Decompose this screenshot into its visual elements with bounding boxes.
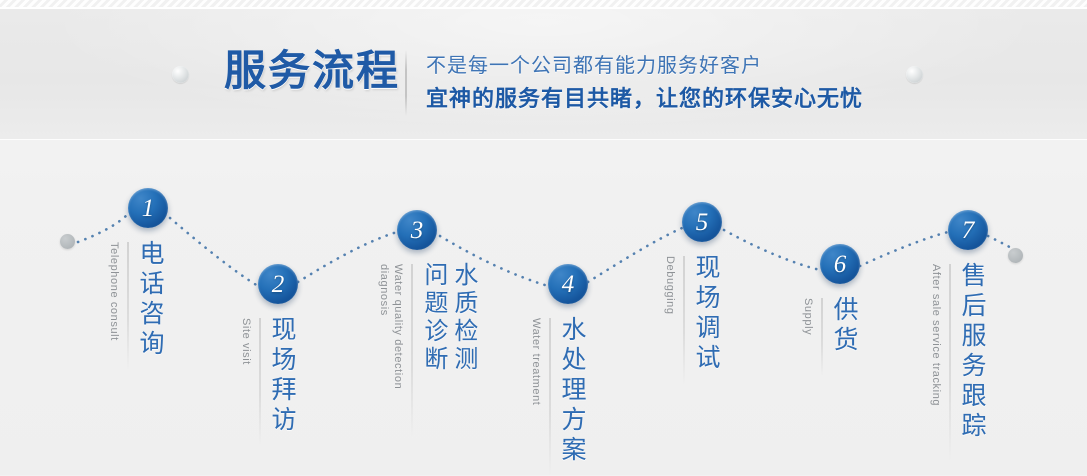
step-label-7: After sale service tracking 售后服务跟踪 [930, 262, 985, 462]
start-endpoint-dot [60, 234, 75, 249]
step-label-6: Supply 供货 [802, 296, 857, 376]
step-label-2-en: Site visit [240, 316, 252, 365]
step-circle-4[interactable]: 4 [548, 264, 588, 304]
service-process-banner: 服务流程 不是每一个公司都有能力服务好客户 宜神的服务有目共睹，让您的环保安心无… [0, 0, 1087, 475]
top-stripe-decoration [0, 0, 1087, 7]
step-label-6-en: Supply [802, 296, 814, 335]
step-label-3: diagnosis Water quality detection 问题诊断 水… [378, 262, 476, 438]
step-label-6-separator [821, 298, 823, 376]
step-label-5-en: Debugging [664, 254, 676, 315]
step-circle-2[interactable]: 2 [258, 264, 298, 304]
step-label-2-separator [259, 318, 261, 446]
step-label-7-separator [949, 264, 951, 462]
step-label-1-separator [127, 242, 129, 370]
step-label-3-cn-2: 问题诊断 [420, 262, 446, 374]
step-label-3-en-2: diagnosis [378, 262, 390, 316]
step-label-5-cn: 现场调试 [692, 254, 719, 374]
rivet-icon-left [172, 66, 189, 83]
step-circle-3[interactable]: 3 [397, 210, 437, 250]
step-label-6-cn: 供货 [830, 296, 857, 356]
step-label-3-en: Water quality detection [392, 262, 404, 389]
step-label-2-cn: 现场拜访 [268, 316, 295, 436]
rivet-icon-right [906, 66, 923, 83]
step-label-4: Water treatment 水处理方案 [530, 316, 585, 476]
step-label-3-separator [411, 264, 413, 438]
step-circle-1[interactable]: 1 [128, 188, 168, 228]
step-label-1-cn: 电话咨询 [136, 240, 163, 360]
step-label-4-en: Water treatment [530, 316, 542, 405]
step-label-4-cn: 水处理方案 [558, 316, 585, 466]
header-divider [405, 50, 407, 116]
header-subtitle-line-2: 宜神的服务有目共睹，让您的环保安心无忧 [426, 88, 863, 110]
step-label-7-cn: 售后服务跟踪 [958, 262, 985, 442]
step-label-4-separator [549, 318, 551, 476]
step-label-2: Site visit 现场拜访 [240, 316, 295, 446]
step-circle-5[interactable]: 5 [682, 202, 722, 242]
end-endpoint-dot [1008, 248, 1023, 263]
step-label-5-separator [683, 256, 685, 384]
step-label-5: Debugging 现场调试 [664, 254, 719, 384]
page-title: 服务流程 [224, 50, 400, 92]
step-label-1: Telephone consult 电话咨询 [108, 240, 163, 370]
process-flow: 1 Telephone consult 电话咨询 2 Site visit 现场… [0, 140, 1087, 475]
step-label-7-en: After sale service tracking [930, 262, 942, 406]
step-label-3-cn: 水质检测 [450, 262, 476, 374]
step-circle-6[interactable]: 6 [820, 244, 860, 284]
header-subtitle-line-1: 不是每一个公司都有能力服务好客户 [426, 56, 762, 76]
step-label-1-en: Telephone consult [108, 240, 120, 341]
step-circle-7[interactable]: 7 [948, 210, 988, 250]
